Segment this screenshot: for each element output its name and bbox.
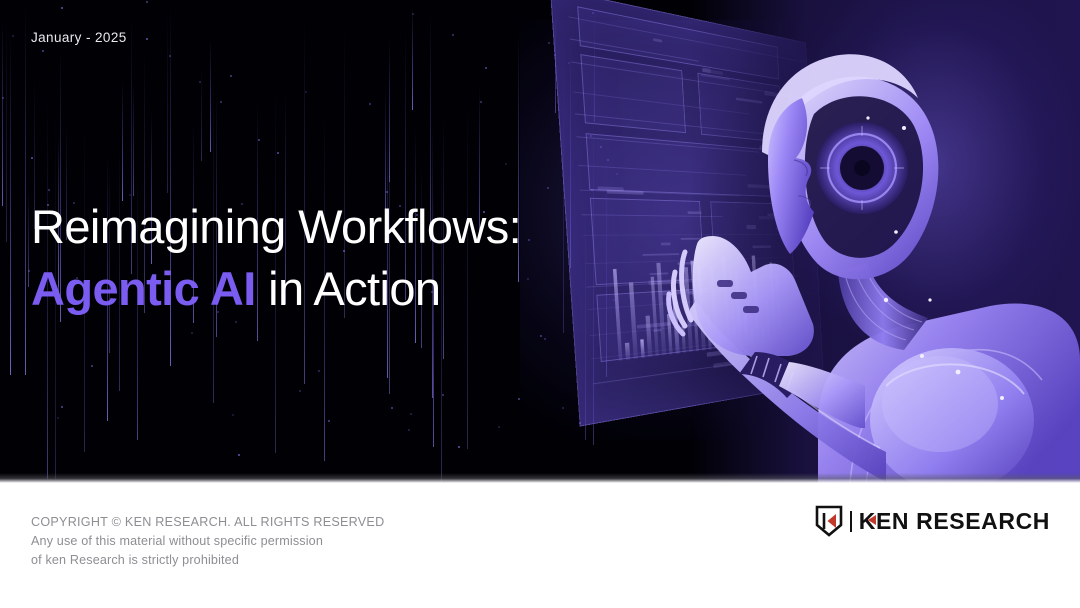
stream-dot xyxy=(199,81,201,83)
stream-dot xyxy=(235,321,237,323)
stream-dot xyxy=(527,278,529,280)
stream-dot xyxy=(31,157,33,159)
title-line-2-rest: in Action xyxy=(256,262,441,315)
stream-dot xyxy=(91,365,93,367)
stream-line xyxy=(133,82,134,196)
stream-dot xyxy=(42,50,44,52)
stream-dot xyxy=(498,426,500,428)
stream-dot xyxy=(485,67,487,69)
stream-dot xyxy=(480,101,482,103)
page-title: Reimagining Workflows: Agentic AI in Act… xyxy=(31,196,521,320)
stream-line xyxy=(385,89,386,212)
robot-hand xyxy=(655,228,865,428)
legal-text: COPYRIGHT © KEN RESEARCH. ALL RIGHTS RES… xyxy=(31,513,384,570)
stream-line xyxy=(25,2,26,375)
stream-dot xyxy=(220,101,222,103)
stream-dot xyxy=(386,191,388,193)
stream-line xyxy=(10,31,11,375)
stream-dot xyxy=(391,407,393,409)
stream-line xyxy=(201,66,202,161)
title-accent: Agentic AI xyxy=(31,262,256,315)
stream-dot xyxy=(544,338,546,340)
title-line-1: Reimagining Workflows: xyxy=(31,196,521,258)
stream-dot xyxy=(230,75,232,77)
stream-line xyxy=(6,11,7,242)
stream-dot xyxy=(442,394,444,396)
stream-line xyxy=(412,5,413,110)
hologram-widget xyxy=(581,54,687,133)
legal-line-3: of ken Research is strictly prohibited xyxy=(31,551,384,570)
stream-dot xyxy=(258,139,260,141)
slide-date: January - 2025 xyxy=(31,30,127,45)
brand-name-rest: EN RESEARCH xyxy=(876,508,1050,535)
stream-dot xyxy=(328,420,330,422)
stream-dot xyxy=(169,55,171,57)
stream-line xyxy=(210,38,211,152)
stream-dot xyxy=(146,38,148,40)
brand-name: KEN RESEARCH xyxy=(859,508,1050,535)
title-line-2: Agentic AI in Action xyxy=(31,258,521,320)
stream-dot xyxy=(412,13,414,15)
stream-dot xyxy=(562,407,564,409)
stream-dot xyxy=(548,42,550,44)
brand-k-triangle xyxy=(868,515,876,525)
stream-dot xyxy=(458,446,460,448)
stream-dot xyxy=(505,163,507,165)
stream-dot xyxy=(408,429,410,431)
stream-dot xyxy=(540,335,542,337)
stream-dot xyxy=(232,414,234,416)
copyright-line: COPYRIGHT © KEN RESEARCH. ALL RIGHTS RES… xyxy=(31,513,384,532)
stream-line xyxy=(122,81,123,201)
stream-line xyxy=(2,19,3,206)
stream-dot xyxy=(61,406,63,408)
stream-dot xyxy=(61,7,63,9)
stream-dot xyxy=(146,1,148,3)
brand-divider xyxy=(850,511,852,532)
stream-line xyxy=(28,190,29,287)
stream-dot xyxy=(277,152,279,154)
stream-dot xyxy=(191,332,193,334)
stream-dot xyxy=(238,454,240,456)
stream-dot xyxy=(57,417,59,419)
brand-lockup: KEN RESEARCH xyxy=(815,505,1050,537)
footer-section: COPYRIGHT © KEN RESEARCH. ALL RIGHTS RES… xyxy=(0,483,1080,608)
ken-research-shield-icon xyxy=(815,505,843,537)
slide-root: January - 2025 Reimagining Workflows: Ag… xyxy=(0,0,1080,608)
stream-dot xyxy=(299,390,301,392)
stream-dot xyxy=(369,103,371,105)
stream-dot xyxy=(547,187,549,189)
legal-line-2: Any use of this material without specifi… xyxy=(31,532,384,551)
stream-line xyxy=(167,10,168,193)
hologram-label xyxy=(606,189,644,194)
stream-dot xyxy=(452,34,454,36)
stream-dot xyxy=(12,35,14,37)
stream-dot xyxy=(305,91,307,93)
stream-dot xyxy=(2,97,4,99)
stream-dot xyxy=(528,239,530,241)
stream-dot xyxy=(28,270,30,272)
stream-dot xyxy=(410,413,412,415)
stream-dot xyxy=(48,189,50,191)
stream-dot xyxy=(318,370,320,372)
brand-name-k: K xyxy=(859,508,876,535)
stream-dot xyxy=(518,398,520,400)
hero-section: January - 2025 Reimagining Workflows: Ag… xyxy=(0,0,1080,483)
